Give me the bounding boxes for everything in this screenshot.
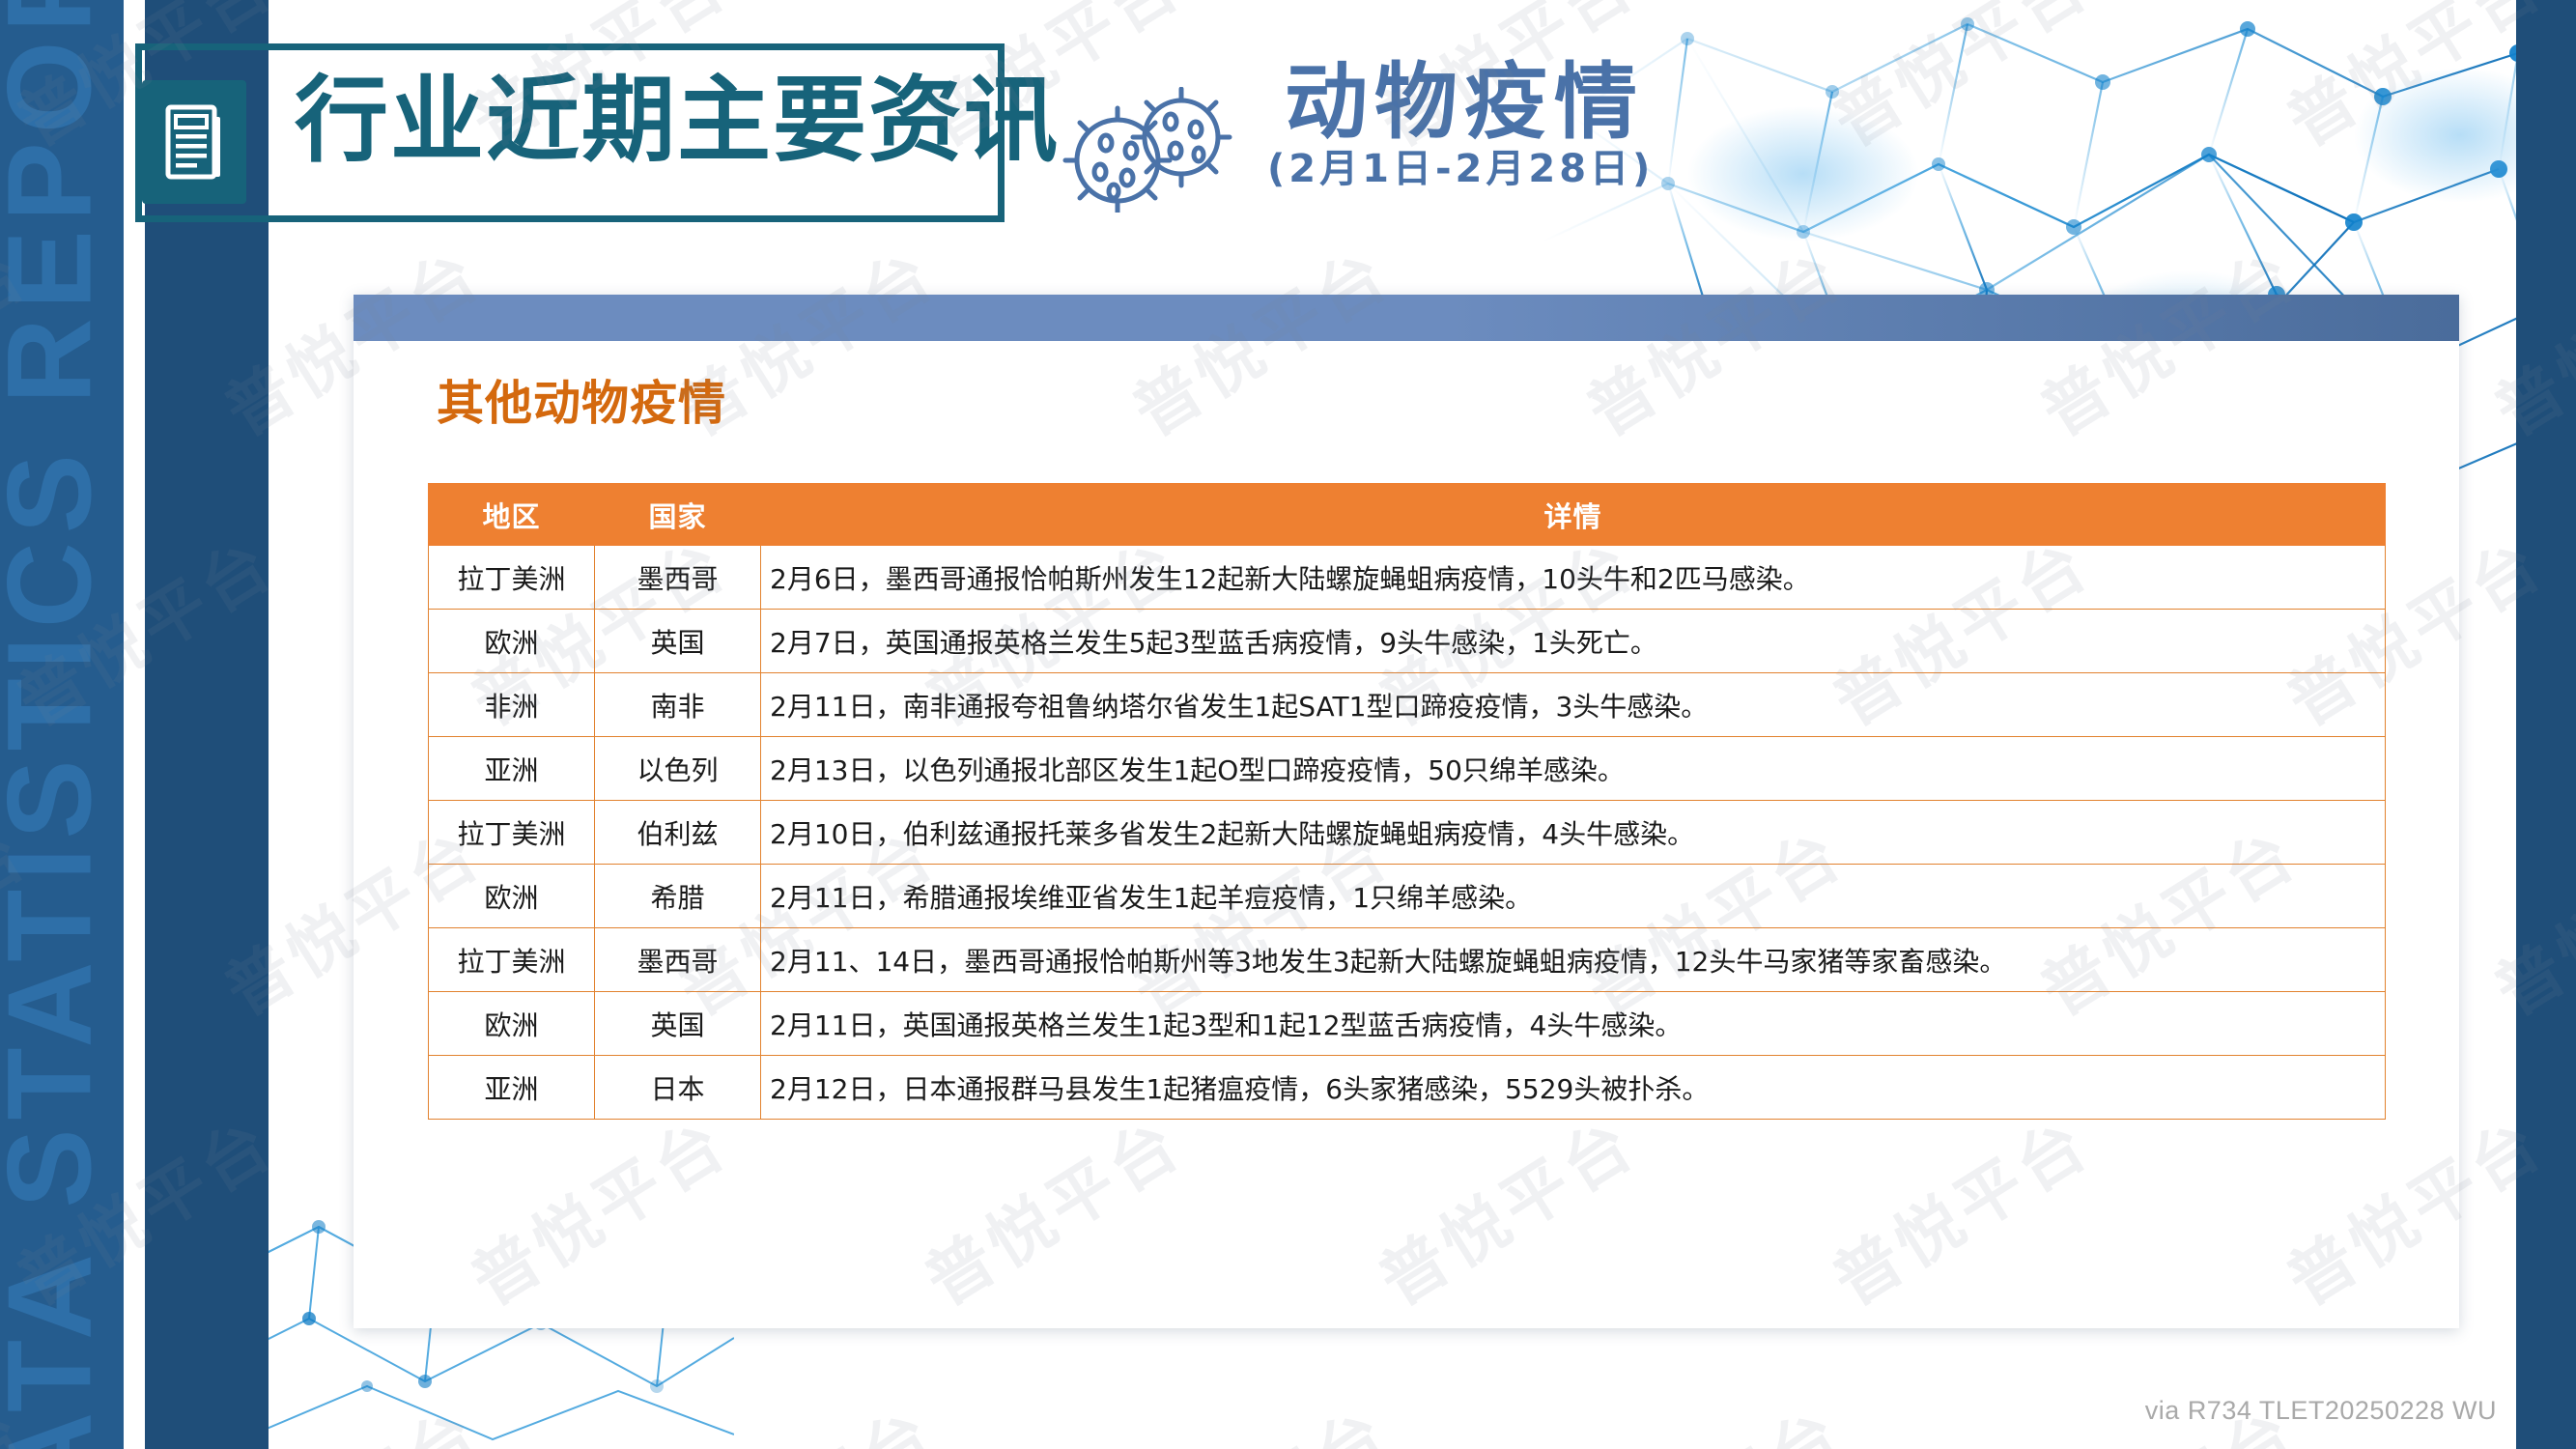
cell-region: 欧洲	[429, 992, 595, 1056]
cell-country: 以色列	[595, 737, 761, 801]
table-row: 亚洲 以色列 2月13日，以色列通报北部区发生1起O型口蹄疫疫情，50只绵羊感染…	[429, 737, 2386, 801]
cell-country: 日本	[595, 1056, 761, 1120]
table-row: 拉丁美洲 伯利兹 2月10日，伯利兹通报托莱多省发生2起新大陆螺旋蝇蛆病疫情，4…	[429, 801, 2386, 865]
slide-root: DATA STATISTICS REPORT 行业近期主要资讯	[0, 0, 2576, 1449]
cell-detail: 2月11日，希腊通报埃维亚省发生1起羊痘疫情，1只绵羊感染。	[761, 865, 2386, 928]
table-row: 亚洲 日本 2月12日，日本通报群马县发生1起猪瘟疫情，6头家猪感染，5529头…	[429, 1056, 2386, 1120]
cell-detail: 2月12日，日本通报群马县发生1起猪瘟疫情，6头家猪感染，5529头被扑杀。	[761, 1056, 2386, 1120]
cell-region: 非洲	[429, 673, 595, 737]
cell-country: 南非	[595, 673, 761, 737]
cell-country: 墨西哥	[595, 546, 761, 610]
table-header-row: 地区 国家 详情	[429, 484, 2386, 546]
watermark-text: 普悦平台	[658, 1380, 950, 1449]
table-head: 地区 国家 详情	[429, 484, 2386, 546]
cell-region: 拉丁美洲	[429, 546, 595, 610]
epidemic-title: 动物疫情	[1285, 61, 1644, 144]
table-body: 拉丁美洲 墨西哥 2月6日，墨西哥通报恰帕斯州发生12起新大陆螺旋蝇蛆病疫情，1…	[429, 546, 2386, 1120]
cell-country: 墨西哥	[595, 928, 761, 992]
cell-detail: 2月13日，以色列通报北部区发生1起O型口蹄疫疫情，50只绵羊感染。	[761, 737, 2386, 801]
cell-region: 拉丁美洲	[429, 801, 595, 865]
epidemic-date-range: (2月1日-2月28日)	[1267, 150, 1654, 188]
table-row: 欧洲 英国 2月7日，英国通报英格兰发生5起3型蓝舌病疫情，9头牛感染，1头死亡…	[429, 610, 2386, 673]
sidebar-band-inner: DATA STATISTICS REPORT	[0, 0, 107, 1449]
cell-region: 亚洲	[429, 737, 595, 801]
watermark-text: 普悦平台	[1566, 1380, 1858, 1449]
content-card: 其他动物疫情 地区 国家 详情 拉丁美洲	[354, 295, 2459, 1328]
cell-region: 亚洲	[429, 1056, 595, 1120]
watermark-text: 普悦平台	[1112, 1380, 1404, 1449]
footer-source-note: via R734 TLET20250228 WU	[2145, 1396, 2497, 1426]
table-row: 拉丁美洲 墨西哥 2月6日，墨西哥通报恰帕斯州发生12起新大陆螺旋蝇蛆病疫情，1…	[429, 546, 2386, 610]
watermark-text: 普悦平台	[1812, 0, 2105, 164]
right-rail	[2516, 0, 2576, 1449]
table-container: 地区 国家 详情 拉丁美洲 墨西哥 2月6日，墨西哥通报恰帕斯州发生12起新大陆…	[428, 483, 2386, 1120]
newspaper-icon	[142, 80, 246, 204]
cell-detail: 2月11日，英国通报英格兰发生1起3型和1起12型蓝舌病疫情，4头牛感染。	[761, 992, 2386, 1056]
table-row: 欧洲 希腊 2月11日，希腊通报埃维亚省发生1起羊痘疫情，1只绵羊感染。	[429, 865, 2386, 928]
sidebar-vertical-title: DATA STATISTICS REPORT	[0, 0, 110, 1449]
cell-country: 英国	[595, 992, 761, 1056]
table-row: 欧洲 英国 2月11日，英国通报英格兰发生1起3型和1起12型蓝舌病疫情，4头牛…	[429, 992, 2386, 1056]
cell-detail: 2月11日，南非通报夸祖鲁纳塔尔省发生1起SAT1型口蹄疫疫情，3头牛感染。	[761, 673, 2386, 737]
page-title: 行业近期主要资讯	[295, 73, 1060, 167]
col-header-region: 地区	[429, 484, 595, 546]
cell-detail: 2月7日，英国通报英格兰发生5起3型蓝舌病疫情，9头牛感染，1头死亡。	[761, 610, 2386, 673]
table-row: 非洲 南非 2月11日，南非通报夸祖鲁纳塔尔省发生1起SAT1型口蹄疫疫情，3头…	[429, 673, 2386, 737]
cell-region: 欧洲	[429, 610, 595, 673]
col-header-country: 国家	[595, 484, 761, 546]
cell-detail: 2月10日，伯利兹通报托莱多省发生2起新大陆螺旋蝇蛆病疫情，4头牛感染。	[761, 801, 2386, 865]
table-row: 拉丁美洲 墨西哥 2月11、14日，墨西哥通报恰帕斯州等3地发生3起新大陆螺旋蝇…	[429, 928, 2386, 992]
cell-country: 伯利兹	[595, 801, 761, 865]
cell-region: 拉丁美洲	[429, 928, 595, 992]
cell-detail: 2月11、14日，墨西哥通报恰帕斯州等3地发生3起新大陆螺旋蝇蛆病疫情，12头牛…	[761, 928, 2386, 992]
cell-detail: 2月6日，墨西哥通报恰帕斯州发生12起新大陆螺旋蝇蛆病疫情，10头牛和2匹马感染…	[761, 546, 2386, 610]
virus-icon	[1058, 87, 1260, 213]
section-title: 其他动物疫情	[437, 380, 726, 427]
cell-country: 英国	[595, 610, 761, 673]
card-top-bar	[354, 295, 2459, 341]
cell-country: 希腊	[595, 865, 761, 928]
col-header-detail: 详情	[761, 484, 2386, 546]
sidebar-band-outer: DATA STATISTICS REPORT	[0, 0, 124, 1449]
cell-region: 欧洲	[429, 865, 595, 928]
animal-epidemic-table: 地区 国家 详情 拉丁美洲 墨西哥 2月6日，墨西哥通报恰帕斯州发生12起新大陆…	[428, 483, 2386, 1120]
